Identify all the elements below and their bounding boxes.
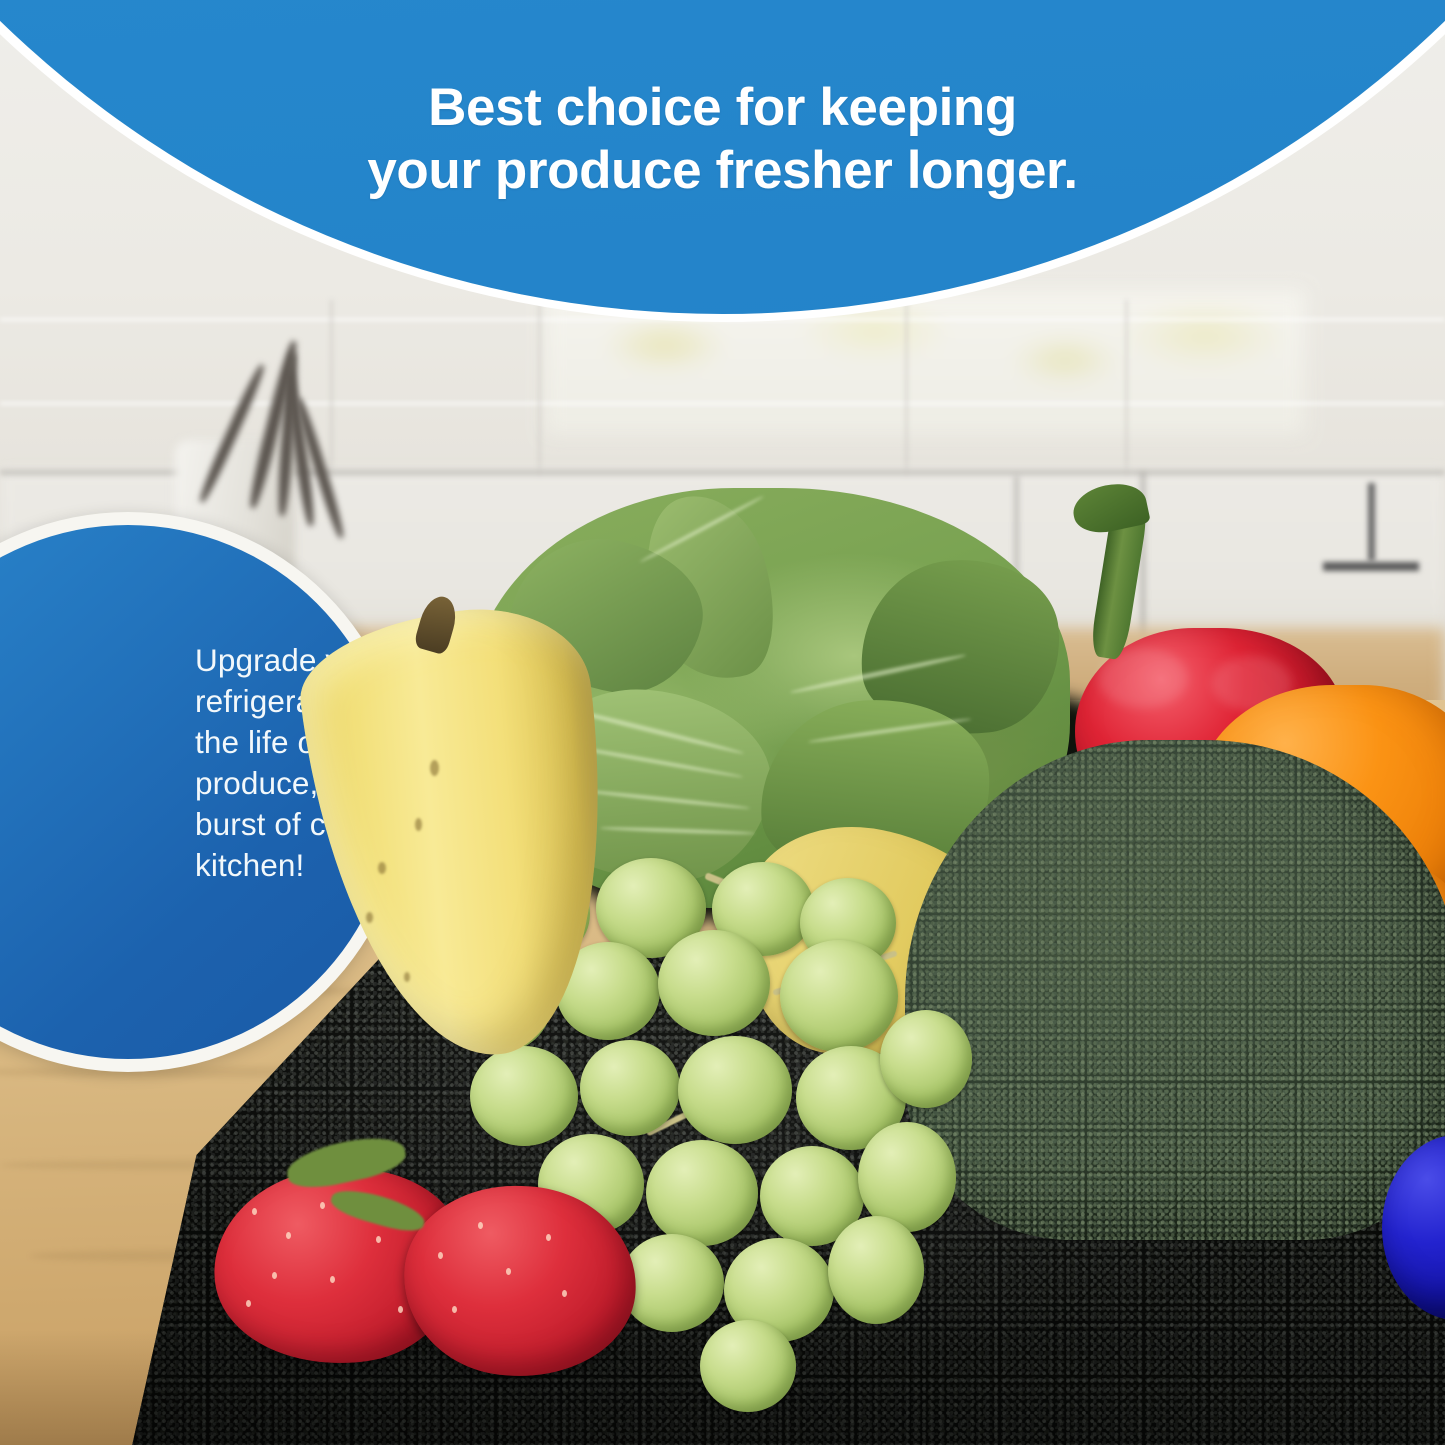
- tile-grout-line: [1125, 300, 1128, 485]
- grape: [678, 1036, 792, 1144]
- tile-grout-line: [0, 402, 1445, 405]
- product-marketing-image: Best choice for keeping your produce fre…: [0, 0, 1445, 1445]
- grape: [828, 1216, 924, 1324]
- grape: [780, 940, 898, 1052]
- broccoli-texture: [905, 740, 1445, 1240]
- tile-grout-line: [330, 300, 333, 485]
- faucet-icon: [1368, 483, 1375, 561]
- grape: [646, 1140, 758, 1246]
- faucet-icon: [1323, 562, 1419, 571]
- tile-grout-line: [905, 300, 908, 485]
- tile-grout-line: [0, 318, 1445, 321]
- grape: [470, 1046, 578, 1146]
- grape: [580, 1040, 680, 1136]
- grape: [700, 1320, 796, 1412]
- grape: [658, 930, 770, 1036]
- grape: [880, 1010, 972, 1108]
- wall-artwork: [545, 290, 1305, 435]
- broccoli: [905, 740, 1445, 1240]
- tile-grout-line: [538, 300, 541, 485]
